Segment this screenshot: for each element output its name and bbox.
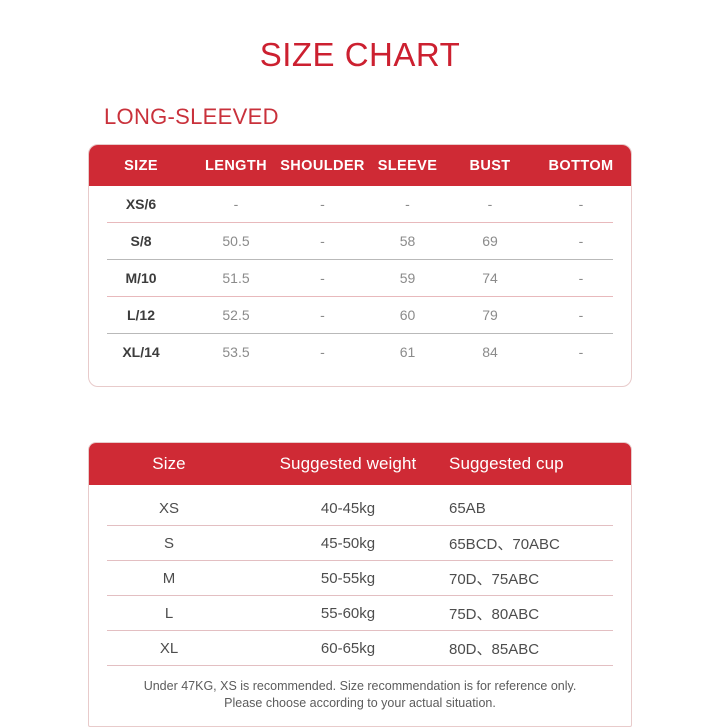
column-header-sleeve: SLEEVE — [366, 158, 449, 174]
table-row: S 45-50kg 65BCD、70ABC — [89, 526, 631, 560]
column-header-suggested-cup: Suggested cup — [447, 454, 631, 474]
cell-cup: 65BCD、70ABC — [447, 533, 631, 554]
cell-bottom: - — [531, 233, 631, 249]
recommendation-card: Size Suggested weight Suggested cup XS 4… — [88, 442, 632, 727]
cell-shoulder: - — [279, 307, 366, 323]
table-row: XL/14 53.5 - 61 84 - — [89, 334, 631, 370]
table-row: XS 40-45kg 65AB — [89, 491, 631, 525]
column-header-bust: BUST — [449, 158, 531, 174]
footnote-line-1: Under 47KG, XS is recommended. Size reco… — [119, 678, 601, 695]
cell-bust: 69 — [449, 233, 531, 249]
measurements-card: SIZE LENGTH SHOULDER SLEEVE BUST BOTTOM … — [88, 144, 632, 387]
cell-sleeve: 61 — [366, 344, 449, 360]
cell-cup: 65AB — [447, 500, 631, 517]
size-chart-page: SIZE CHART LONG-SLEEVED SIZE LENGTH SHOU… — [0, 0, 720, 720]
cell-shoulder: - — [279, 344, 366, 360]
column-header-bottom: BOTTOM — [531, 158, 631, 174]
cell-cup: 70D、75ABC — [447, 568, 631, 589]
cell-size: XS/6 — [89, 196, 193, 212]
footnote-line-2: Please choose according to your actual s… — [119, 695, 601, 712]
recommendation-table-header: Size Suggested weight Suggested cup — [89, 443, 631, 485]
table-row: L/12 52.5 - 60 79 - — [89, 297, 631, 333]
cell-bottom: - — [531, 270, 631, 286]
cell-bottom: - — [531, 196, 631, 212]
cell-size: XL/14 — [89, 344, 193, 360]
footnote: Under 47KG, XS is recommended. Size reco… — [89, 666, 631, 726]
cell-length: - — [193, 196, 279, 212]
measurements-table-body: XS/6 - - - - - S/8 50.5 - 58 69 - M/10 5… — [89, 186, 631, 386]
cell-length: 50.5 — [193, 233, 279, 249]
column-header-size: Size — [89, 454, 249, 474]
cell-weight: 45-50kg — [249, 535, 447, 552]
cell-size: L — [89, 605, 249, 622]
cell-shoulder: - — [279, 196, 366, 212]
cell-bottom: - — [531, 344, 631, 360]
cell-size: XL — [89, 640, 249, 657]
cell-shoulder: - — [279, 233, 366, 249]
cell-weight: 55-60kg — [249, 605, 447, 622]
recommendation-table-body: XS 40-45kg 65AB S 45-50kg 65BCD、70ABC M … — [89, 485, 631, 726]
cell-sleeve: 60 — [366, 307, 449, 323]
cell-size: XS — [89, 500, 249, 517]
cell-weight: 60-65kg — [249, 640, 447, 657]
table-row: L 55-60kg 75D、80ABC — [89, 596, 631, 630]
cell-bust: 74 — [449, 270, 531, 286]
cell-weight: 50-55kg — [249, 570, 447, 587]
table-row: XL 60-65kg 80D、85ABC — [89, 631, 631, 665]
cell-size: M — [89, 570, 249, 587]
cell-bust: 79 — [449, 307, 531, 323]
table-row: M/10 51.5 - 59 74 - — [89, 260, 631, 296]
measurements-table-header: SIZE LENGTH SHOULDER SLEEVE BUST BOTTOM — [89, 145, 631, 186]
page-title: SIZE CHART — [0, 35, 720, 75]
section-title-long-sleeved: LONG-SLEEVED — [104, 103, 279, 131]
table-row: XS/6 - - - - - — [89, 186, 631, 222]
cell-size: S — [89, 535, 249, 552]
cell-size: M/10 — [89, 270, 193, 286]
cell-sleeve: 59 — [366, 270, 449, 286]
column-header-size: SIZE — [89, 158, 193, 174]
column-header-suggested-weight: Suggested weight — [249, 454, 447, 474]
cell-length: 51.5 — [193, 270, 279, 286]
table-row: S/8 50.5 - 58 69 - — [89, 223, 631, 259]
cell-size: L/12 — [89, 307, 193, 323]
cell-cup: 75D、80ABC — [447, 603, 631, 624]
cell-length: 53.5 — [193, 344, 279, 360]
cell-bottom: - — [531, 307, 631, 323]
cell-bust: - — [449, 196, 531, 212]
cell-shoulder: - — [279, 270, 366, 286]
table-row: M 50-55kg 70D、75ABC — [89, 561, 631, 595]
column-header-shoulder: SHOULDER — [279, 158, 366, 174]
cell-cup: 80D、85ABC — [447, 638, 631, 659]
cell-size: S/8 — [89, 233, 193, 249]
cell-sleeve: 58 — [366, 233, 449, 249]
cell-bust: 84 — [449, 344, 531, 360]
cell-sleeve: - — [366, 196, 449, 212]
cell-weight: 40-45kg — [249, 500, 447, 517]
column-header-length: LENGTH — [193, 158, 279, 174]
cell-length: 52.5 — [193, 307, 279, 323]
